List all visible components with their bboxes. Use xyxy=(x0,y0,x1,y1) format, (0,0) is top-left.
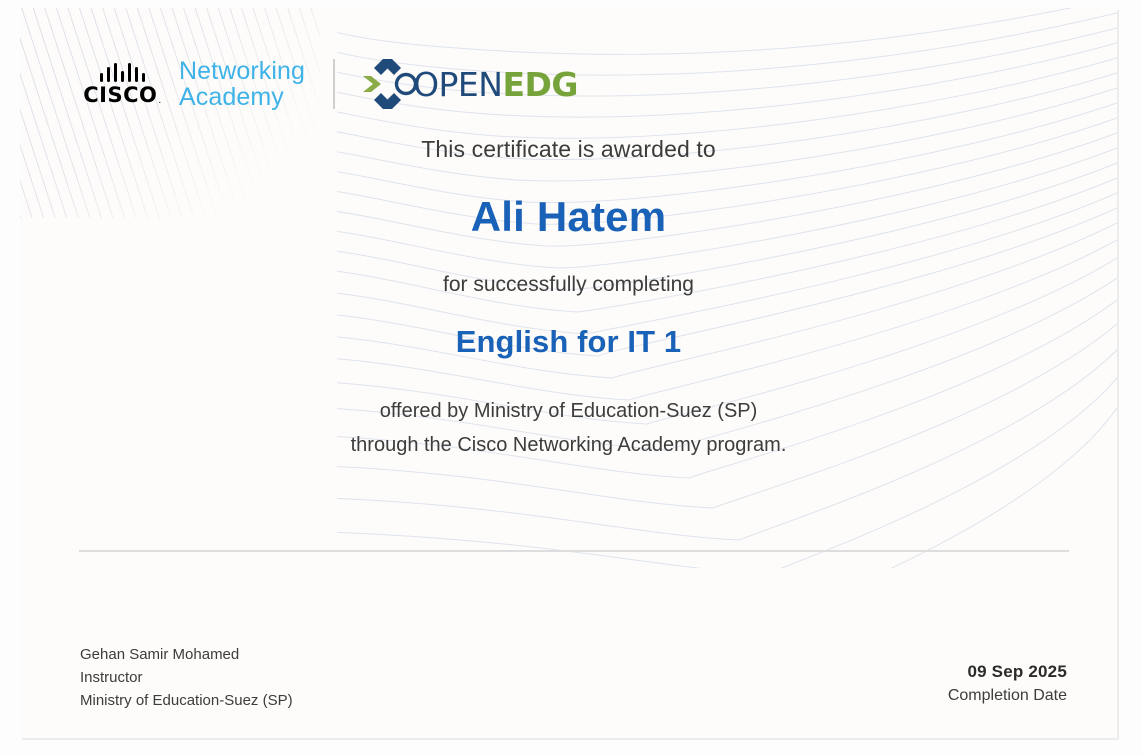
logo-row: CISCO. Networking Academy xyxy=(78,53,578,115)
completion-date-label: Completion Date xyxy=(948,687,1067,705)
cisco-networking-academy-logo: CISCO. Networking Academy xyxy=(78,58,305,111)
offered-by-block: offered by Ministry of Education-Suez (S… xyxy=(20,394,1117,462)
offered-by-line2: through the Cisco Networking Academy pro… xyxy=(20,428,1117,462)
footer-divider xyxy=(79,550,1069,552)
instructor-block: Gehan Samir Mohamed Instructor Ministry … xyxy=(80,644,293,712)
networking-academy-line2: Academy xyxy=(179,84,305,111)
certificate-body: This certificate is awarded to Ali Hatem… xyxy=(20,136,1117,462)
logo-separator xyxy=(333,59,335,109)
completing-line: for successfully completing xyxy=(20,273,1117,297)
openedg-logo: OPENEDG xyxy=(361,58,578,110)
openedg-open-text: OPEN xyxy=(413,65,502,104)
completion-date-value: 09 Sep 2025 xyxy=(948,662,1067,682)
recipient-name: Ali Hatem xyxy=(20,193,1117,241)
openedg-x-mark-icon xyxy=(361,58,417,110)
cisco-wordmark-text: CISCO xyxy=(83,83,157,107)
openedg-edg-text: EDG xyxy=(502,65,578,104)
offered-by-line1: offered by Ministry of Education-Suez (S… xyxy=(20,394,1117,428)
instructor-organization: Ministry of Education-Suez (SP) xyxy=(80,690,293,713)
course-title: English for IT 1 xyxy=(20,324,1117,360)
instructor-name: Gehan Samir Mohamed xyxy=(80,644,293,667)
cisco-bridge-icon: CISCO. xyxy=(78,62,166,106)
cisco-wordmark: CISCO. xyxy=(83,85,161,106)
openedg-wordmark: OPENEDG xyxy=(413,68,578,101)
awarded-line: This certificate is awarded to xyxy=(20,136,1117,163)
networking-academy-line1: Networking xyxy=(179,58,305,85)
certificate-page: CISCO. Networking Academy xyxy=(0,0,1141,755)
instructor-role: Instructor xyxy=(80,667,293,690)
certificate-card: CISCO. Networking Academy xyxy=(20,8,1117,738)
cisco-trademark: . xyxy=(158,96,161,106)
networking-academy-text: Networking Academy xyxy=(179,58,305,111)
cisco-bars-icon xyxy=(100,62,145,82)
completion-date-block: 09 Sep 2025 Completion Date xyxy=(948,662,1067,705)
